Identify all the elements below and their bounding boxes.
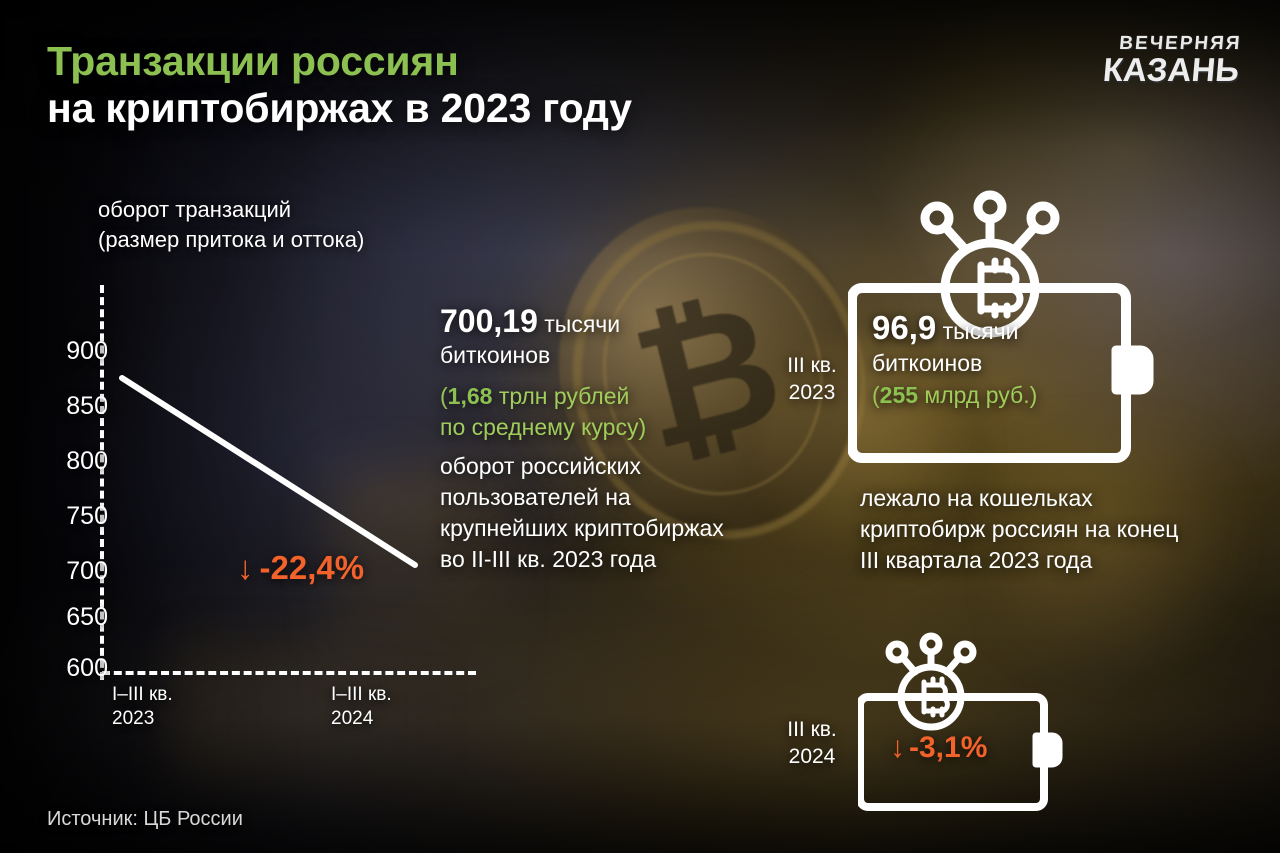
x-tick-2023-line2: 2023 bbox=[112, 707, 173, 731]
publisher-logo: ВЕЧЕРНЯЯ КАЗАНЬ bbox=[1068, 34, 1242, 85]
x-tick-2023: I–III кв. 2023 bbox=[112, 683, 173, 731]
wallet-balance-amount: 96,9 bbox=[872, 309, 936, 346]
arrow-down-icon: ↓ bbox=[890, 733, 905, 763]
bitcoin-wallet-icon bbox=[858, 628, 1068, 818]
x-tick-2023-line1: I–III кв. bbox=[112, 683, 173, 707]
source-note: Источник: ЦБ России bbox=[47, 807, 243, 831]
turnover-amount: 700,19 bbox=[440, 303, 538, 339]
x-tick-2024: I–III кв. 2024 bbox=[331, 683, 392, 731]
logo-line-kazan: КАЗАНЬ bbox=[1068, 54, 1241, 85]
page-title-line2: на криптобиржах в 2023 году bbox=[47, 85, 877, 132]
chart-caption-line2: (размер притока и оттока) bbox=[98, 225, 528, 255]
quarter-label-2023-line1: III кв. bbox=[762, 352, 862, 379]
wallet-balance-rub-open: ( bbox=[872, 382, 880, 408]
x-tick-2024-line1: I–III кв. bbox=[331, 683, 392, 707]
turnover-amount-unit: тысячи bbox=[538, 311, 620, 337]
turnover-rub-value: 1,68 bbox=[448, 383, 493, 409]
quarter-label-2024: III кв. 2024 bbox=[762, 716, 862, 770]
turnover-amount-unit2: биткоинов bbox=[440, 342, 550, 368]
quarter-label-2023: III кв. 2023 bbox=[762, 352, 862, 406]
wallet-balance-description: лежало на кошельках криптобирж россиян н… bbox=[860, 483, 1180, 576]
infographic-canvas: ₿ Транзакции россиян на криптобиржах в 2… bbox=[0, 0, 1280, 853]
wallet-balance-text: 96,9 тысячи биткоинов (255 млрд руб.) bbox=[872, 312, 1122, 411]
page-title: Транзакции россиян на криптобиржах в 202… bbox=[47, 38, 877, 132]
quarter-label-2023-line2: 2023 bbox=[762, 379, 862, 406]
wallet-card-balance: 96,9 тысячи биткоинов (255 млрд руб.) bbox=[848, 172, 1158, 468]
page-title-line1: Транзакции россиян bbox=[47, 38, 877, 85]
wallet-change-badge: ↓-3,1% bbox=[890, 733, 1040, 763]
wallet-balance-unit2: биткоинов bbox=[872, 350, 982, 376]
wallet-balance-rub-rest: млрд руб.) bbox=[918, 382, 1037, 408]
wallet-balance-unit: тысячи bbox=[936, 318, 1018, 344]
turnover-rub-rest: трлн рублей bbox=[492, 383, 629, 409]
turnover-rub-block: (1,68 трлн рублей по среднему курсу) bbox=[440, 381, 730, 443]
turnover-amount-block: 700,19 тысячи биткоинов bbox=[440, 306, 730, 371]
turnover-line-chart: 900 850 800 750 700 650 600 I–III кв. 20… bbox=[40, 285, 480, 685]
wallet-balance-rub-value: 255 bbox=[880, 382, 918, 408]
wallet-balance-rub: (255 млрд руб.) bbox=[872, 382, 1037, 408]
arrow-down-icon: ↓ bbox=[237, 551, 254, 584]
quarter-label-2024-line1: III кв. bbox=[762, 716, 862, 743]
chart-change-value: -22,4% bbox=[260, 549, 365, 586]
chart-trend-line bbox=[40, 285, 480, 685]
quarter-label-2024-line2: 2024 bbox=[762, 743, 862, 770]
chart-caption-line1: оборот транзакций bbox=[98, 195, 528, 225]
turnover-description: оборот российских пользователей на крупн… bbox=[440, 451, 730, 575]
turnover-summary: 700,19 тысячи биткоинов (1,68 трлн рубле… bbox=[440, 306, 730, 575]
turnover-rub-open: ( bbox=[440, 383, 448, 409]
wallet-change-value: -3,1% bbox=[909, 731, 987, 764]
chart-change-badge: ↓-22,4% bbox=[237, 551, 364, 584]
wallet-card-change: ↓-3,1% bbox=[858, 628, 1068, 818]
turnover-rub-line2: по среднему курсу) bbox=[440, 414, 646, 440]
chart-caption: оборот транзакций (размер притока и отто… bbox=[98, 195, 528, 255]
x-tick-2024-line2: 2024 bbox=[331, 707, 392, 731]
